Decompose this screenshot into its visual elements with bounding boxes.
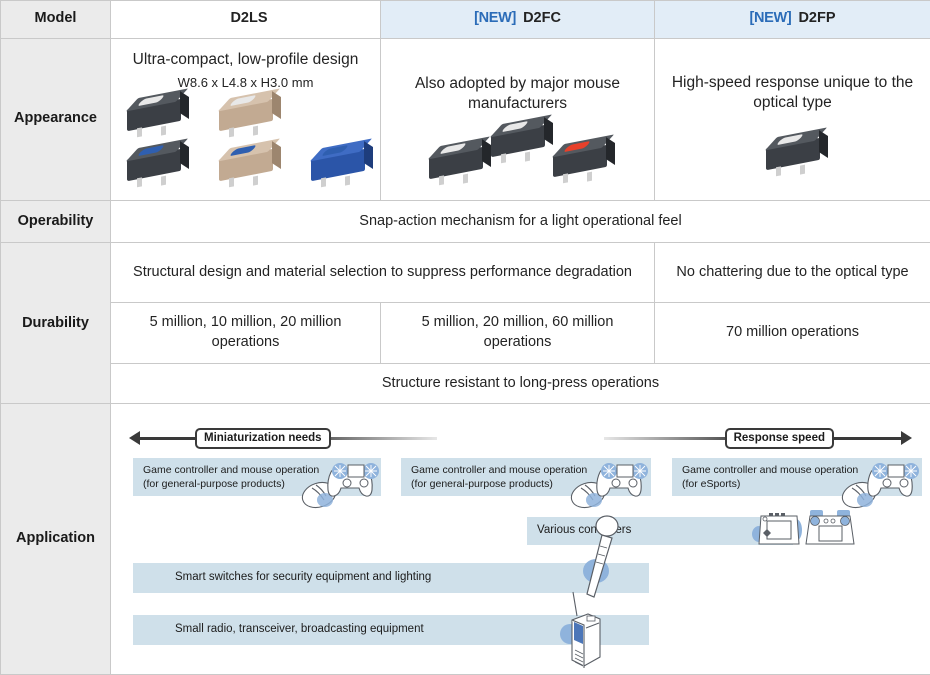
gamepad-and-mouse-icon	[832, 454, 922, 512]
switch-image	[207, 104, 285, 138]
durability-operations-d2ls: 5 million, 10 million, 20 million operat…	[111, 303, 381, 364]
axis-label-miniaturization: Miniaturization needs	[195, 428, 331, 449]
d2fc-switch-group-photo	[389, 136, 646, 165]
application-panel: Miniaturization needs Response speed Gam…	[119, 410, 922, 668]
row-label-durability: Durability	[1, 243, 111, 404]
arrow-left-icon	[129, 431, 140, 445]
appearance-headline-d2fc: Also adopted by major mouse manufacturer…	[389, 74, 646, 114]
transceiver-radio-icon	[556, 590, 610, 668]
spec-table: Model D2LS [NEW]D2FC [NEW]D2FP Appearanc…	[0, 0, 930, 675]
durability-footer: Structure resistant to long-press operat…	[111, 363, 930, 404]
appearance-cell-d2fp: High-speed response unique to the optica…	[655, 38, 930, 200]
column-header-d2fc: [NEW]D2FC	[381, 1, 655, 39]
appearance-headline-d2fp: High-speed response unique to the optica…	[663, 73, 922, 113]
appearance-cell-d2fc: Also adopted by major mouse manufacturer…	[381, 38, 655, 200]
arrow-right-icon	[901, 431, 912, 445]
application-cell: Miniaturization needs Response speed Gam…	[111, 404, 930, 675]
table-header-row: Model D2LS [NEW]D2FC [NEW]D2FP	[1, 1, 930, 39]
switch-image	[553, 150, 607, 179]
spec-comparison-sheet: Model D2LS [NEW]D2FC [NEW]D2FP Appearanc…	[0, 0, 930, 675]
band-smart-switches: Smart switches for security equipment an…	[133, 563, 649, 593]
new-badge-d2fp: [NEW]	[749, 10, 791, 26]
gamepad-and-mouse-icon	[292, 454, 384, 512]
switch-image	[766, 143, 820, 165]
table-row-durability-feature: Durability Structural design and materia…	[1, 243, 930, 303]
table-row-operability: Operability Snap-action mechanism for a …	[1, 200, 930, 243]
durability-feature-left: Structural design and material selection…	[111, 243, 655, 303]
switch-image	[115, 154, 193, 188]
switch-image	[299, 154, 377, 188]
new-badge-d2fc: [NEW]	[474, 10, 516, 26]
appearance-dimensions-d2ls: W8.6 x L4.8 x H3.0 mm	[119, 74, 372, 92]
column-title-d2fp: D2FP	[798, 10, 835, 26]
d2ls-switch-group-photo	[119, 104, 372, 188]
durability-operations-d2fc: 5 million, 20 million, 60 million operat…	[381, 303, 655, 364]
row-label-appearance: Appearance	[1, 38, 111, 200]
gamepad-and-mouse-icon	[561, 454, 653, 512]
switch-image	[207, 154, 285, 188]
table-row-appearance: Appearance Ultra-compact, low-profile de…	[1, 38, 930, 200]
switch-image	[429, 152, 483, 181]
table-row-durability-operations: 5 million, 10 million, 20 million operat…	[1, 303, 930, 364]
appearance-cell-d2ls: Ultra-compact, low-profile design W8.6 x…	[111, 38, 381, 200]
column-header-d2fp: [NEW]D2FP	[655, 1, 930, 39]
handheld-controllers-icon	[749, 506, 857, 554]
table-row-durability-footer: Structure resistant to long-press operat…	[1, 363, 930, 404]
operability-value: Snap-action mechanism for a light operat…	[111, 200, 930, 243]
switch-image	[115, 104, 193, 138]
row-label-operability: Operability	[1, 200, 111, 243]
application-axis: Miniaturization needs Response speed	[129, 428, 912, 448]
row-label-model: Model	[1, 1, 111, 39]
durability-feature-right: No chattering due to the optical type	[655, 243, 930, 303]
switch-image	[491, 130, 545, 159]
appearance-headline-d2ls: Ultra-compact, low-profile design	[119, 50, 372, 70]
durability-operations-d2fp: 70 million operations	[655, 303, 930, 364]
table-row-application: Application Miniaturization needs Respon…	[1, 404, 930, 675]
d2fp-switch-photo	[663, 143, 922, 165]
column-header-d2ls: D2LS	[111, 1, 381, 39]
row-label-application: Application	[1, 404, 111, 675]
column-title-d2fc: D2FC	[523, 10, 561, 26]
column-title-d2ls: D2LS	[230, 10, 267, 26]
axis-label-response-speed: Response speed	[725, 428, 834, 449]
